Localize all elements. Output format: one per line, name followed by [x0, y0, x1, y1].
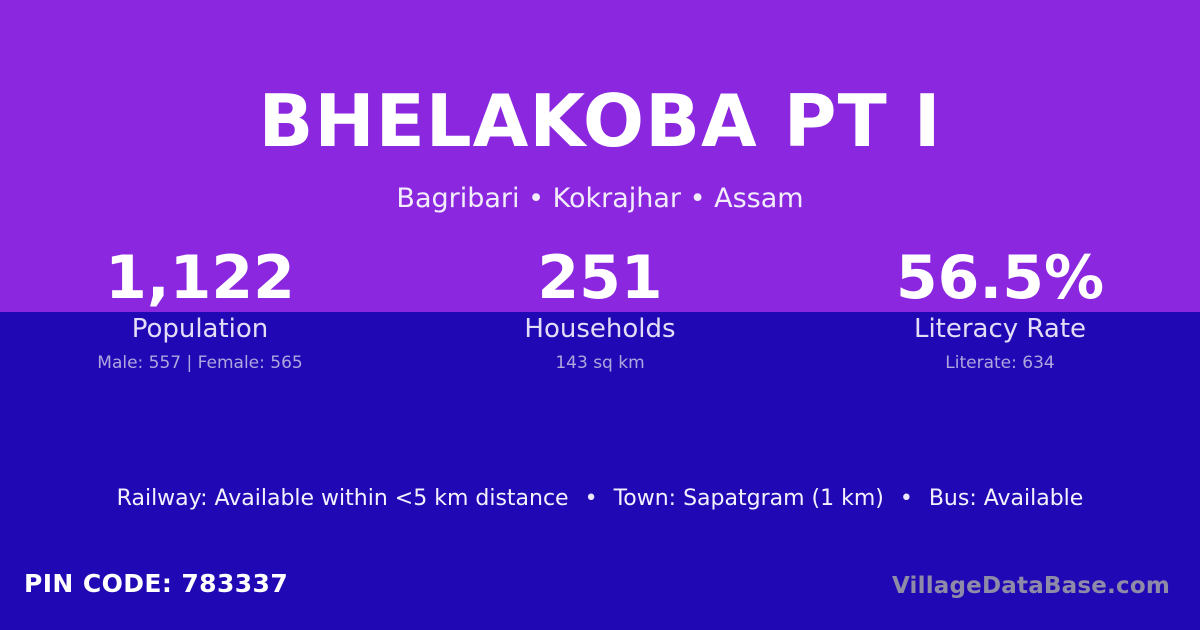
- stat-label: Households: [400, 313, 800, 345]
- stat-value: 56.5%: [800, 246, 1200, 310]
- pin-code: PIN CODE: 783337: [24, 568, 288, 600]
- amenity-separator-icon: •: [891, 484, 922, 514]
- brand-watermark: VillageDataBase.com: [892, 571, 1170, 601]
- stat-population: 1,122 Population Male: 557 | Female: 565: [0, 246, 400, 374]
- stat-value: 251: [400, 246, 800, 310]
- page-title: BHELAKOBA PT I: [0, 78, 1200, 164]
- village-info-card: BHELAKOBA PT I Bagribari • Kokrajhar • A…: [0, 0, 1200, 630]
- stat-label: Population: [0, 313, 400, 345]
- stat-value: 1,122: [0, 246, 400, 310]
- footer: PIN CODE: 783337 VillageDataBase.com: [0, 554, 1200, 630]
- amenity-town: Town: Sapatgram (1 km): [614, 486, 884, 511]
- stat-sublabel: 143 sq km: [400, 352, 800, 374]
- location-breadcrumb: Bagribari • Kokrajhar • Assam: [0, 182, 1200, 216]
- amenities-line: Railway: Available within <5 km distance…: [0, 484, 1200, 514]
- stat-label: Literacy Rate: [800, 313, 1200, 345]
- stats-row: 1,122 Population Male: 557 | Female: 565…: [0, 246, 1200, 374]
- amenity-bus: Bus: Available: [929, 486, 1083, 511]
- stat-sublabel: Male: 557 | Female: 565: [0, 352, 400, 374]
- stat-sublabel: Literate: 634: [800, 352, 1200, 374]
- amenity-railway: Railway: Available within <5 km distance: [117, 486, 569, 511]
- amenity-separator-icon: •: [576, 484, 607, 514]
- stat-households: 251 Households 143 sq km: [400, 246, 800, 374]
- stat-literacy-rate: 56.5% Literacy Rate Literate: 634: [800, 246, 1200, 374]
